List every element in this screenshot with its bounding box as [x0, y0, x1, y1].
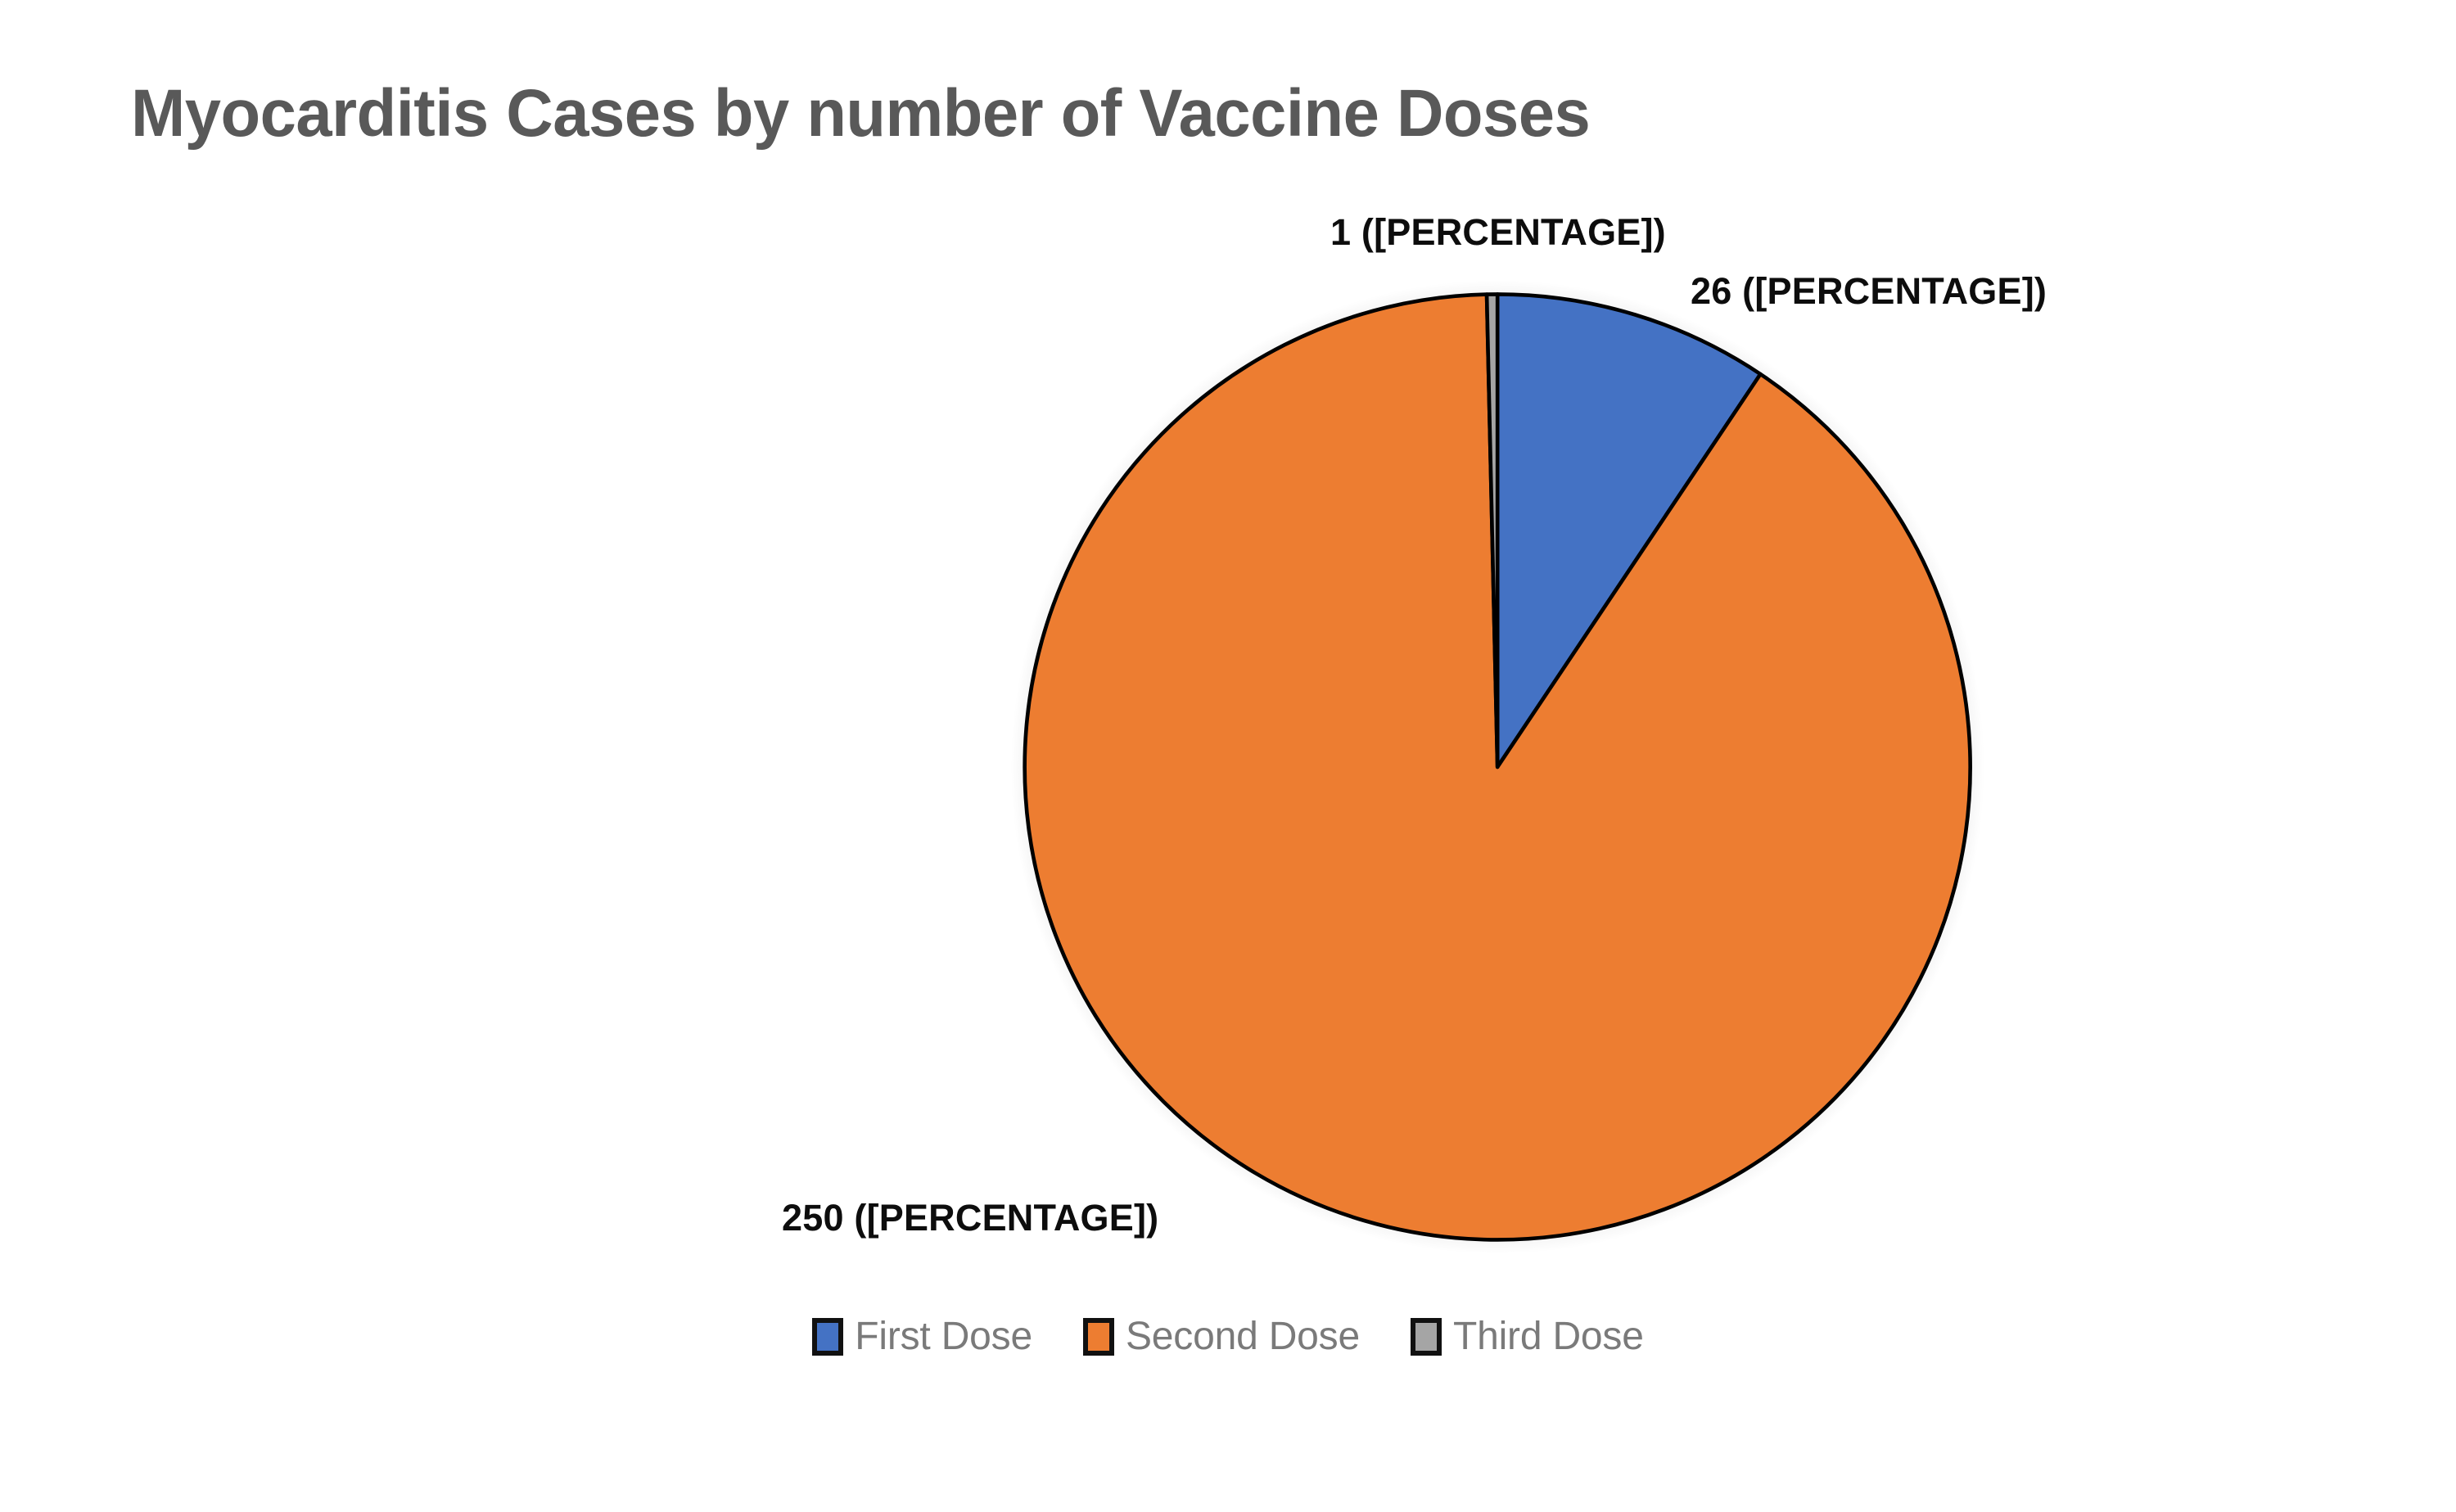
legend-label: Second Dose — [1126, 1314, 1360, 1359]
legend-swatch-icon — [1083, 1318, 1114, 1356]
legend-item-third-dose[interactable]: Third Dose — [1411, 1314, 1644, 1359]
data-label-first-dose: 26 ([PERCENTAGE]) — [1691, 270, 2047, 313]
legend-swatch-icon — [1411, 1318, 1442, 1356]
data-label-third-dose: 1 ([PERCENTAGE]) — [1330, 211, 1666, 254]
legend-label: Third Dose — [1453, 1314, 1644, 1359]
legend-item-second-dose[interactable]: Second Dose — [1083, 1314, 1360, 1359]
pie-svg — [1018, 282, 1963, 1228]
legend-swatch-icon — [812, 1318, 843, 1356]
pie-chart: Myocarditis Cases by number of Vaccine D… — [0, 0, 2456, 1512]
chart-title: Myocarditis Cases by number of Vaccine D… — [131, 75, 1590, 152]
pie-plot-area — [1018, 282, 1963, 1228]
legend-label: First Dose — [855, 1314, 1032, 1359]
pie-slice-group — [1025, 294, 1971, 1239]
chart-legend: First Dose Second Dose Third Dose — [0, 1314, 2456, 1359]
legend-item-first-dose[interactable]: First Dose — [812, 1314, 1032, 1359]
data-label-second-dose: 250 ([PERCENTAGE]) — [782, 1197, 1158, 1239]
